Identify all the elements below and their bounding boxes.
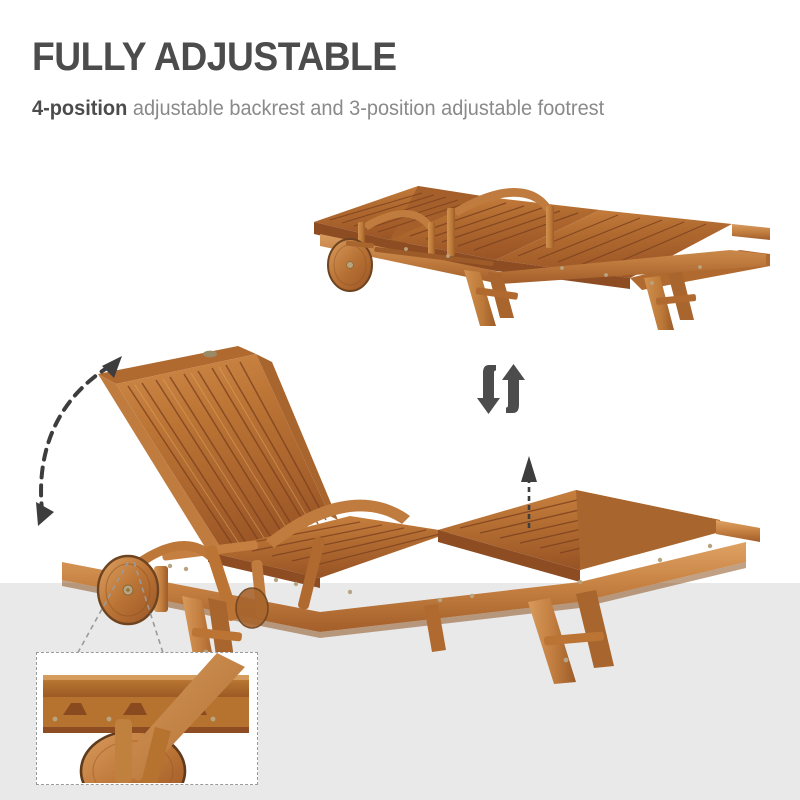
rotate-arrow-head-bottom — [36, 502, 54, 526]
down-arrow-glyph — [477, 365, 500, 414]
up-arrow-glyph — [502, 364, 525, 413]
subtitle-emphasis: 4-position — [32, 97, 127, 120]
inset-vertical-post — [115, 719, 132, 783]
swap-arrows-icon — [470, 358, 532, 420]
top-wheel — [328, 239, 374, 291]
lift-arrow-head — [521, 456, 537, 482]
subtitle-rest: adjustable backrest and 3-position adjus… — [127, 97, 604, 120]
footrest-end-cap — [716, 520, 760, 542]
backrest-notch-detail-inset — [36, 652, 258, 785]
page-subtitle: 4-position adjustable backrest and 3-pos… — [32, 96, 604, 122]
backrest-rotation-arrow-icon — [18, 338, 158, 538]
product-feature-graphic: FULLY ADJUSTABLE 4-position adjustable b… — [0, 0, 800, 800]
rotate-arrow-head-top — [102, 356, 122, 378]
page-title: FULLY ADJUSTABLE — [32, 35, 397, 79]
brand-badge — [203, 351, 217, 358]
footrest-lift-arrow-icon — [510, 452, 550, 532]
lounger-flat-view — [300, 150, 800, 330]
